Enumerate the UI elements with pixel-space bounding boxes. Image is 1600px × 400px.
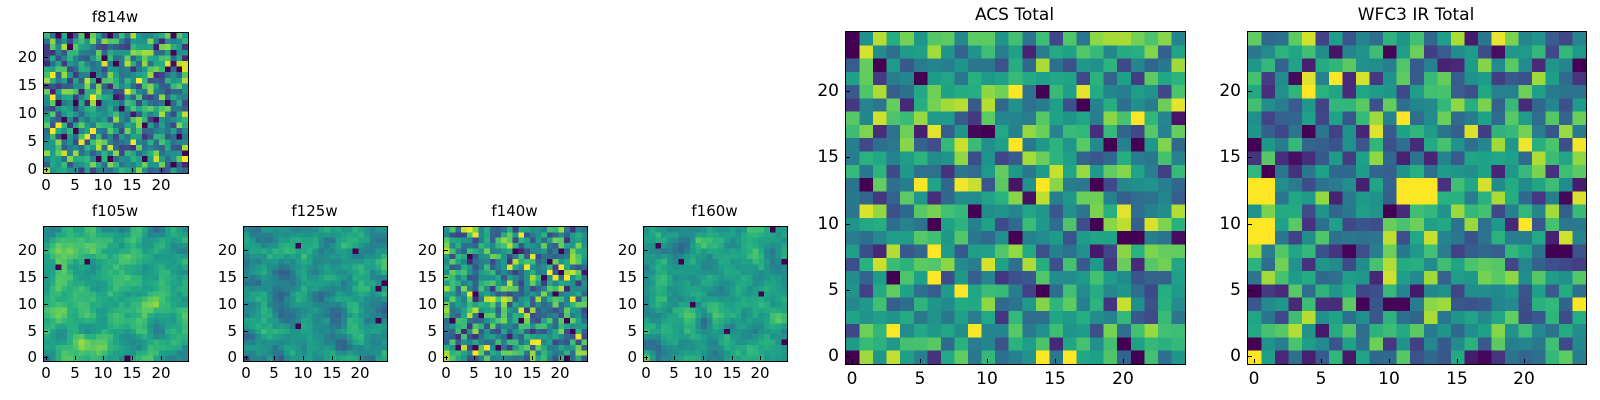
y-tick-label: 20 (595, 243, 637, 258)
panel-title-f160w: f160w (643, 204, 786, 219)
x-tick-label: 20 (340, 366, 380, 381)
x-tick-label: 10 (967, 371, 1007, 388)
y-tick-label: 20 (1199, 83, 1241, 100)
x-tick-mark (332, 356, 333, 360)
y-tick-label: 10 (797, 216, 839, 233)
y-tick-mark (44, 141, 48, 142)
y-tick-label: 5 (195, 324, 237, 339)
x-tick-label: 20 (1504, 371, 1544, 388)
y-tick-mark (1248, 157, 1252, 158)
y-tick-mark (644, 304, 648, 305)
y-tick-mark (644, 277, 648, 278)
y-tick-mark (44, 277, 48, 278)
x-tick-mark (1524, 359, 1525, 363)
y-tick-mark (1248, 91, 1252, 92)
x-tick-mark (532, 356, 533, 360)
x-tick-mark (732, 356, 733, 360)
x-tick-mark (920, 359, 921, 363)
figure-canvas: f814w0510152005101520f105w05101520051015… (0, 0, 1600, 400)
y-tick-mark (846, 91, 850, 92)
x-tick-mark (75, 356, 76, 360)
x-tick-mark (360, 356, 361, 360)
y-tick-label: 0 (0, 162, 37, 177)
heatmap-wfc3-ir-total (1247, 31, 1587, 365)
x-tick-mark (46, 356, 47, 360)
y-tick-label: 0 (195, 350, 237, 365)
x-tick-mark (103, 168, 104, 172)
x-tick-mark (103, 356, 104, 360)
panel-title-acs-total: ACS Total (845, 7, 1184, 24)
x-tick-mark (46, 168, 47, 172)
x-tick-mark (703, 356, 704, 360)
x-tick-mark (1055, 359, 1056, 363)
heatmap-f125w (243, 226, 388, 362)
y-tick-mark (644, 250, 648, 251)
y-tick-mark (44, 57, 48, 58)
x-tick-mark (274, 356, 275, 360)
x-tick-label: 5 (1301, 371, 1341, 388)
x-tick-mark (132, 356, 133, 360)
x-tick-mark (646, 356, 647, 360)
x-tick-label: 15 (1437, 371, 1477, 388)
y-tick-mark (1248, 356, 1252, 357)
y-tick-label: 5 (0, 134, 37, 149)
heatmap-acs-total (845, 31, 1186, 365)
x-tick-label: 20 (1103, 371, 1143, 388)
y-tick-mark (244, 304, 248, 305)
y-tick-label: 5 (1199, 282, 1241, 299)
y-tick-label: 0 (1199, 348, 1241, 365)
x-tick-mark (503, 356, 504, 360)
x-tick-label: 0 (1234, 371, 1274, 388)
y-tick-mark (846, 356, 850, 357)
x-tick-mark (560, 356, 561, 360)
y-tick-label: 5 (797, 282, 839, 299)
panel-title-f105w: f105w (43, 204, 187, 219)
y-tick-label: 20 (195, 243, 237, 258)
panel-title-wfc3-ir-total: WFC3 IR Total (1247, 7, 1585, 24)
y-tick-label: 15 (0, 78, 37, 93)
y-tick-label: 10 (195, 297, 237, 312)
heatmap-f105w (43, 226, 189, 362)
panel-title-f140w: f140w (443, 204, 586, 219)
y-tick-mark (444, 250, 448, 251)
y-tick-mark (44, 331, 48, 332)
y-tick-label: 15 (395, 270, 437, 285)
panel-title-f814w: f814w (43, 10, 187, 25)
y-tick-label: 0 (0, 350, 37, 365)
y-tick-label: 15 (595, 270, 637, 285)
x-tick-mark (446, 356, 447, 360)
x-tick-mark (1254, 359, 1255, 363)
x-tick-mark (1457, 359, 1458, 363)
x-tick-mark (1123, 359, 1124, 363)
y-tick-label: 0 (797, 348, 839, 365)
heatmap-f140w (443, 226, 588, 362)
x-tick-mark (161, 168, 162, 172)
panel-title-f125w: f125w (243, 204, 386, 219)
y-tick-mark (244, 277, 248, 278)
x-tick-label: 5 (900, 371, 940, 388)
x-tick-mark (75, 168, 76, 172)
y-tick-mark (244, 250, 248, 251)
y-tick-label: 15 (0, 270, 37, 285)
x-tick-mark (1389, 359, 1390, 363)
y-tick-label: 10 (0, 106, 37, 121)
y-tick-mark (244, 331, 248, 332)
y-tick-mark (44, 113, 48, 114)
x-tick-label: 10 (1369, 371, 1409, 388)
x-tick-mark (246, 356, 247, 360)
y-tick-label: 10 (1199, 216, 1241, 233)
y-tick-mark (846, 224, 850, 225)
y-tick-label: 20 (0, 243, 37, 258)
x-tick-label: 20 (141, 366, 181, 381)
y-tick-mark (44, 304, 48, 305)
y-tick-label: 5 (0, 324, 37, 339)
x-tick-mark (132, 168, 133, 172)
y-tick-label: 10 (395, 297, 437, 312)
x-tick-label: 20 (740, 366, 780, 381)
y-tick-label: 0 (395, 350, 437, 365)
x-tick-mark (987, 359, 988, 363)
y-tick-label: 15 (1199, 149, 1241, 166)
y-tick-label: 15 (797, 149, 839, 166)
x-tick-mark (303, 356, 304, 360)
x-tick-mark (760, 356, 761, 360)
heatmap-f160w (643, 226, 788, 362)
y-tick-mark (644, 331, 648, 332)
x-tick-mark (1321, 359, 1322, 363)
y-tick-label: 5 (595, 324, 637, 339)
y-tick-label: 0 (595, 350, 637, 365)
y-tick-label: 20 (395, 243, 437, 258)
y-tick-mark (444, 331, 448, 332)
x-tick-label: 20 (141, 178, 181, 193)
y-tick-mark (444, 304, 448, 305)
y-tick-label: 5 (395, 324, 437, 339)
y-tick-mark (1248, 224, 1252, 225)
y-tick-mark (846, 290, 850, 291)
y-tick-mark (44, 85, 48, 86)
y-tick-mark (44, 250, 48, 251)
y-tick-label: 20 (797, 83, 839, 100)
y-tick-mark (846, 157, 850, 158)
y-tick-label: 15 (195, 270, 237, 285)
x-tick-mark (674, 356, 675, 360)
y-tick-label: 20 (0, 50, 37, 65)
y-tick-label: 10 (595, 297, 637, 312)
x-tick-mark (852, 359, 853, 363)
x-tick-mark (161, 356, 162, 360)
x-tick-mark (474, 356, 475, 360)
y-tick-mark (1248, 290, 1252, 291)
y-tick-mark (444, 277, 448, 278)
heatmap-f814w (43, 32, 189, 174)
x-tick-label: 15 (1035, 371, 1075, 388)
y-tick-label: 10 (0, 297, 37, 312)
x-tick-label: 0 (832, 371, 872, 388)
x-tick-label: 20 (540, 366, 580, 381)
